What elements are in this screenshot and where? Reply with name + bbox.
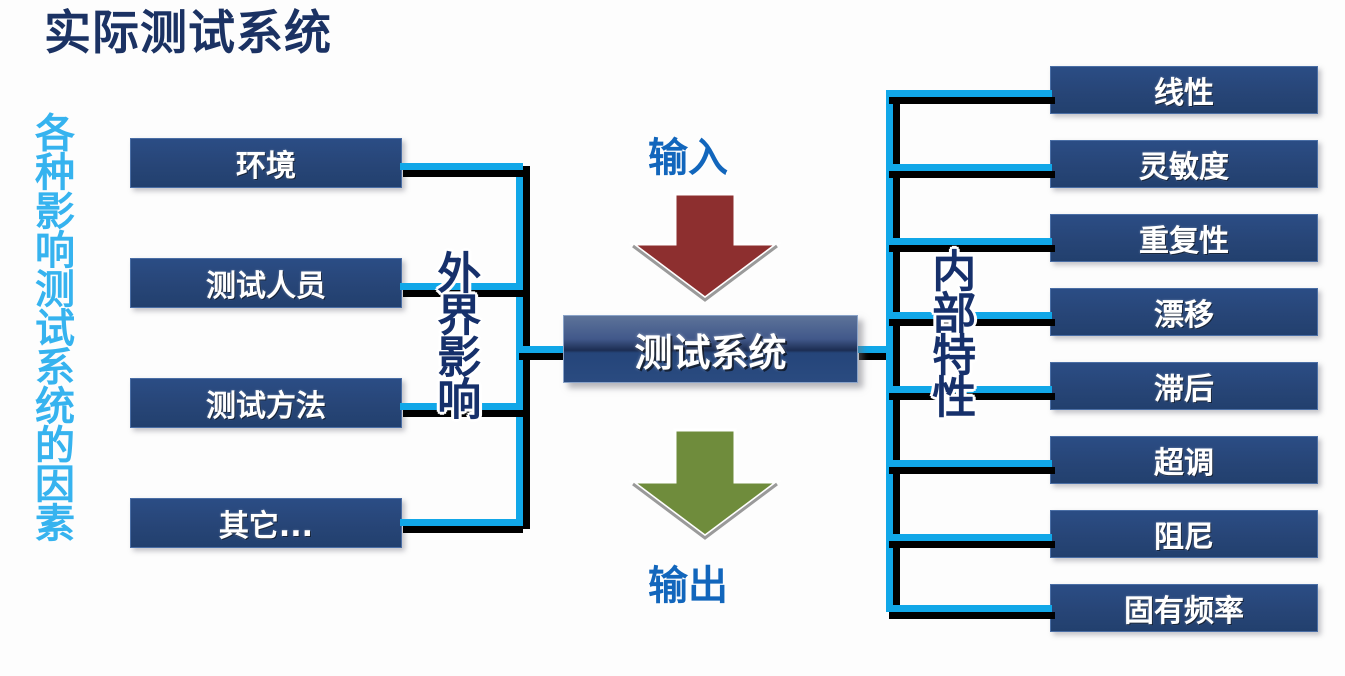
left-box-1-label: 环境 — [236, 141, 296, 185]
right-box-8[interactable]: 固有频率 — [1050, 584, 1318, 632]
right-box-3-label: 重复性 — [1139, 216, 1229, 260]
right-branch-1 — [886, 90, 1052, 97]
left-box-1[interactable]: 环境 — [130, 138, 402, 188]
right-box-4-label: 漂移 — [1154, 290, 1214, 334]
left-branch-4 — [400, 519, 520, 526]
left-vertical-caption: 各种影响测试系统的因素 — [18, 112, 70, 622]
right-branch-7 — [886, 534, 1052, 541]
slide-canvas: 实际测试系统 各种影响测试系统的因素 环境 测试人员 测试方法 其它... 外界… — [0, 0, 1345, 676]
right-box-5[interactable]: 滞后 — [1050, 362, 1318, 410]
right-bracket-label: 内部特性 — [928, 248, 970, 478]
right-box-4[interactable]: 漂移 — [1050, 288, 1318, 336]
output-label: 输出 — [648, 553, 728, 611]
center-system-box[interactable]: 测试系统 — [563, 315, 858, 383]
right-box-6-label: 超调 — [1154, 438, 1214, 482]
input-arrow-icon — [629, 192, 781, 302]
left-box-2[interactable]: 测试人员 — [130, 258, 402, 308]
left-box-3-label: 测试方法 — [206, 381, 326, 425]
input-label: 输入 — [648, 125, 728, 183]
right-box-2[interactable]: 灵敏度 — [1050, 140, 1318, 188]
right-box-1-label: 线性 — [1154, 68, 1214, 112]
right-branch-2 — [886, 164, 1052, 171]
right-box-8-label: 固有频率 — [1124, 586, 1244, 630]
left-box-2-label: 测试人员 — [206, 261, 326, 305]
left-box-4-label: 其它... — [219, 501, 313, 545]
left-bracket-label: 外界影响 — [433, 250, 475, 470]
right-branch-3 — [886, 238, 1052, 245]
left-bracket-to-center — [516, 346, 568, 353]
left-box-4[interactable]: 其它... — [130, 498, 402, 548]
left-branch-1 — [400, 163, 520, 170]
right-box-6[interactable]: 超调 — [1050, 436, 1318, 484]
right-box-7[interactable]: 阻尼 — [1050, 510, 1318, 558]
left-bracket-spine — [516, 163, 523, 526]
output-arrow-icon — [629, 428, 781, 540]
right-box-5-label: 滞后 — [1154, 364, 1214, 408]
right-branch-8 — [886, 605, 1052, 612]
center-system-label: 测试系统 — [634, 322, 786, 377]
page-title: 实际测试系统 — [44, 8, 332, 60]
right-box-3[interactable]: 重复性 — [1050, 214, 1318, 262]
right-box-7-label: 阻尼 — [1154, 512, 1214, 556]
right-box-2-label: 灵敏度 — [1139, 142, 1229, 186]
right-box-1[interactable]: 线性 — [1050, 66, 1318, 114]
left-box-3[interactable]: 测试方法 — [130, 378, 402, 428]
